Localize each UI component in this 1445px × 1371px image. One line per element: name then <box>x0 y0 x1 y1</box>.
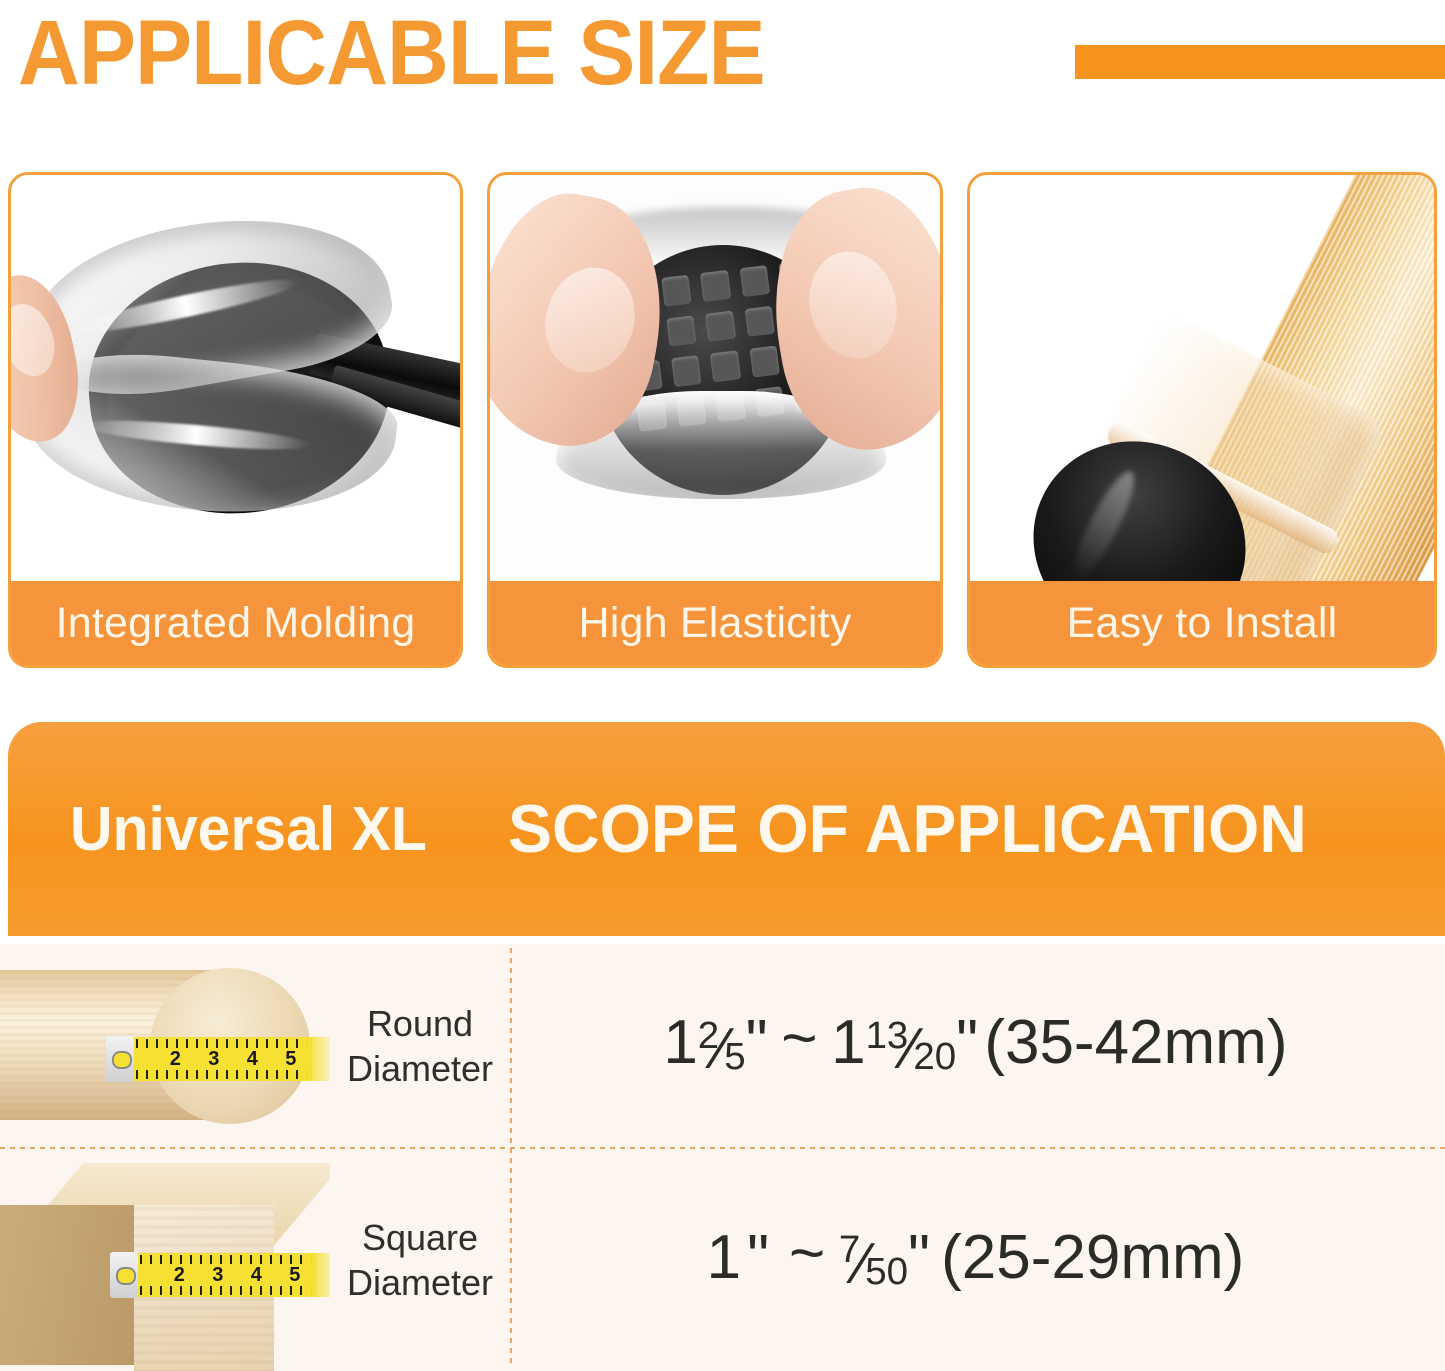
page-header: APPLICABLE SIZE <box>0 0 1445 105</box>
tape-number: 2 <box>170 1048 181 1071</box>
value-unit: " <box>747 1222 769 1293</box>
feature-caption: Integrated Molding <box>11 581 460 665</box>
feature-photo-easy-to-install <box>970 175 1434 587</box>
table-row: 2 3 4 5 Round Diameter 1 2 ⁄ 5 <box>0 944 1445 1147</box>
row-value-square-diameter: 1 " ~ 7 ⁄ 50 " (25-29mm) <box>512 1149 1445 1371</box>
value-range-separator: ~ <box>781 1003 817 1074</box>
tape-numbers: 2 3 4 5 <box>160 1262 314 1288</box>
feature-caption: High Elasticity <box>490 581 940 665</box>
value-metric: (35-42mm) <box>984 1007 1287 1078</box>
value-max-fraction: 13 ⁄ 20 <box>866 1014 957 1080</box>
size-table: 2 3 4 5 Round Diameter 1 2 ⁄ 5 <box>0 944 1445 1371</box>
value-min-fraction: 2 ⁄ 5 <box>698 1014 746 1080</box>
value-min-whole: 1 <box>663 1007 697 1078</box>
feature-photo-integrated-molding <box>11 175 460 587</box>
feature-photo-high-elasticity <box>490 175 940 587</box>
feature-card-high-elasticity[interactable]: High Elasticity <box>487 172 943 668</box>
tape-number: 3 <box>208 1048 219 1071</box>
tape-numbers: 2 3 4 5 <box>156 1046 310 1072</box>
value-metric: (25-29mm) <box>941 1222 1244 1293</box>
tape-number: 5 <box>285 1048 296 1071</box>
feature-card-easy-to-install[interactable]: Easy to Install <box>967 172 1437 668</box>
row-value-round-diameter: 1 2 ⁄ 5 " ~ 1 13 ⁄ 20 " (35-42mm) <box>512 944 1445 1147</box>
tape-number: 3 <box>212 1264 223 1287</box>
value-unit: " <box>956 1007 978 1078</box>
value-unit: " <box>908 1222 930 1293</box>
title-accent-bar <box>1075 45 1445 79</box>
row-label-line2: Diameter <box>347 1046 493 1091</box>
table-row: 2 3 4 5 Square Diameter 1 " ~ 7 ⁄ <box>0 1149 1445 1371</box>
value-max-fraction: 7 ⁄ 50 <box>839 1229 908 1295</box>
tape-number: 2 <box>174 1264 185 1287</box>
row-label-line2: Diameter <box>347 1260 493 1305</box>
feature-card-list: Integrated Molding High Elasticity <box>0 172 1445 668</box>
page-title: APPLICABLE SIZE <box>18 0 765 108</box>
round-dowel-photo: 2 3 4 5 <box>0 944 330 1147</box>
row-label-line1: Round <box>347 1001 493 1046</box>
row-label-round-diameter: Round Diameter <box>330 944 510 1147</box>
value-range-separator: ~ <box>789 1218 825 1289</box>
value-unit: " <box>746 1007 768 1078</box>
row-label-square-diameter: Square Diameter <box>330 1149 510 1371</box>
tape-number: 5 <box>289 1264 300 1287</box>
banner-size-label: Universal XL <box>70 794 427 865</box>
square-post-photo: 2 3 4 5 <box>0 1149 330 1371</box>
tape-number: 4 <box>247 1048 258 1071</box>
banner-title: SCOPE OF APPLICATION <box>508 790 1307 868</box>
value-min-whole: 1 <box>706 1222 740 1293</box>
value-max-whole: 1 <box>831 1007 865 1078</box>
tape-number: 4 <box>251 1264 262 1287</box>
feature-card-integrated-molding[interactable]: Integrated Molding <box>8 172 463 668</box>
row-label-line1: Square <box>347 1215 493 1260</box>
scope-banner: Universal XL SCOPE OF APPLICATION <box>8 722 1445 936</box>
feature-caption: Easy to Install <box>970 581 1434 665</box>
